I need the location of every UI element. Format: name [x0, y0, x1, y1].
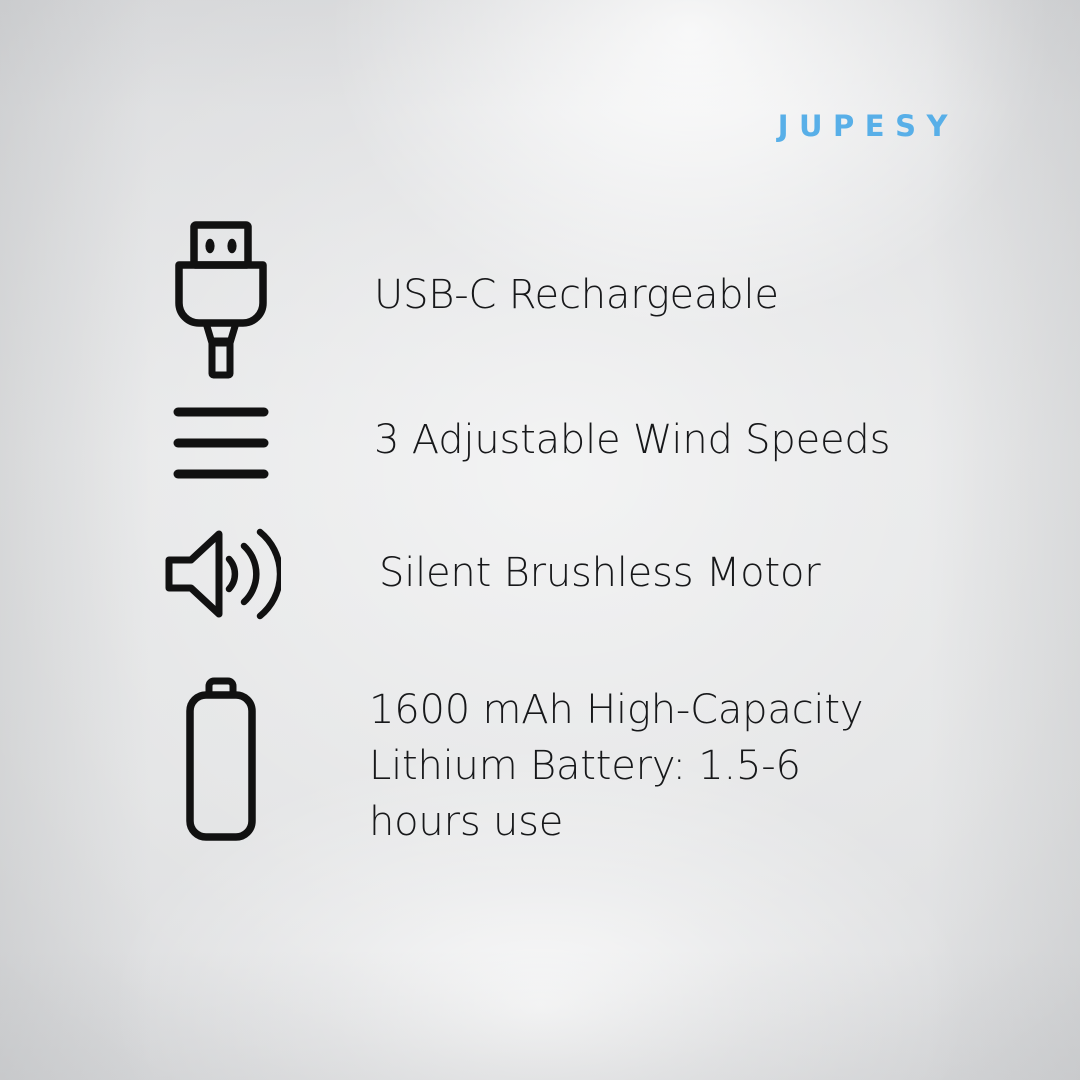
battery-icon [160, 668, 282, 850]
feature-label-usb-c-rechargeable: USB-C Rechargeable [374, 268, 779, 323]
product-feature-card: JUPESY USB-C Rechargeable [0, 0, 1080, 1080]
feature-label-brushless-motor: Silent Brushless Motor [379, 546, 820, 601]
feature-row-wind-speeds: 3 Adjustable Wind Speeds [160, 398, 890, 488]
feature-list: USB-C Rechargeable 3 Adjustable Wind Spe… [0, 0, 1080, 1080]
feature-row-usb-c-rechargeable: USB-C Rechargeable [160, 218, 779, 380]
feature-row-brushless-motor: Silent Brushless Motor [160, 524, 820, 624]
feature-label-battery-capacity: 1600 mAh High-Capacity Lithium Battery: … [369, 682, 863, 850]
feature-label-wind-speeds: 3 Adjustable Wind Speeds [374, 413, 890, 468]
three-bars-icon [160, 398, 282, 488]
feature-row-battery-capacity: 1600 mAh High-Capacity Lithium Battery: … [160, 668, 863, 850]
speaker-sound-icon [160, 524, 282, 624]
usb-plug-icon [160, 218, 282, 380]
